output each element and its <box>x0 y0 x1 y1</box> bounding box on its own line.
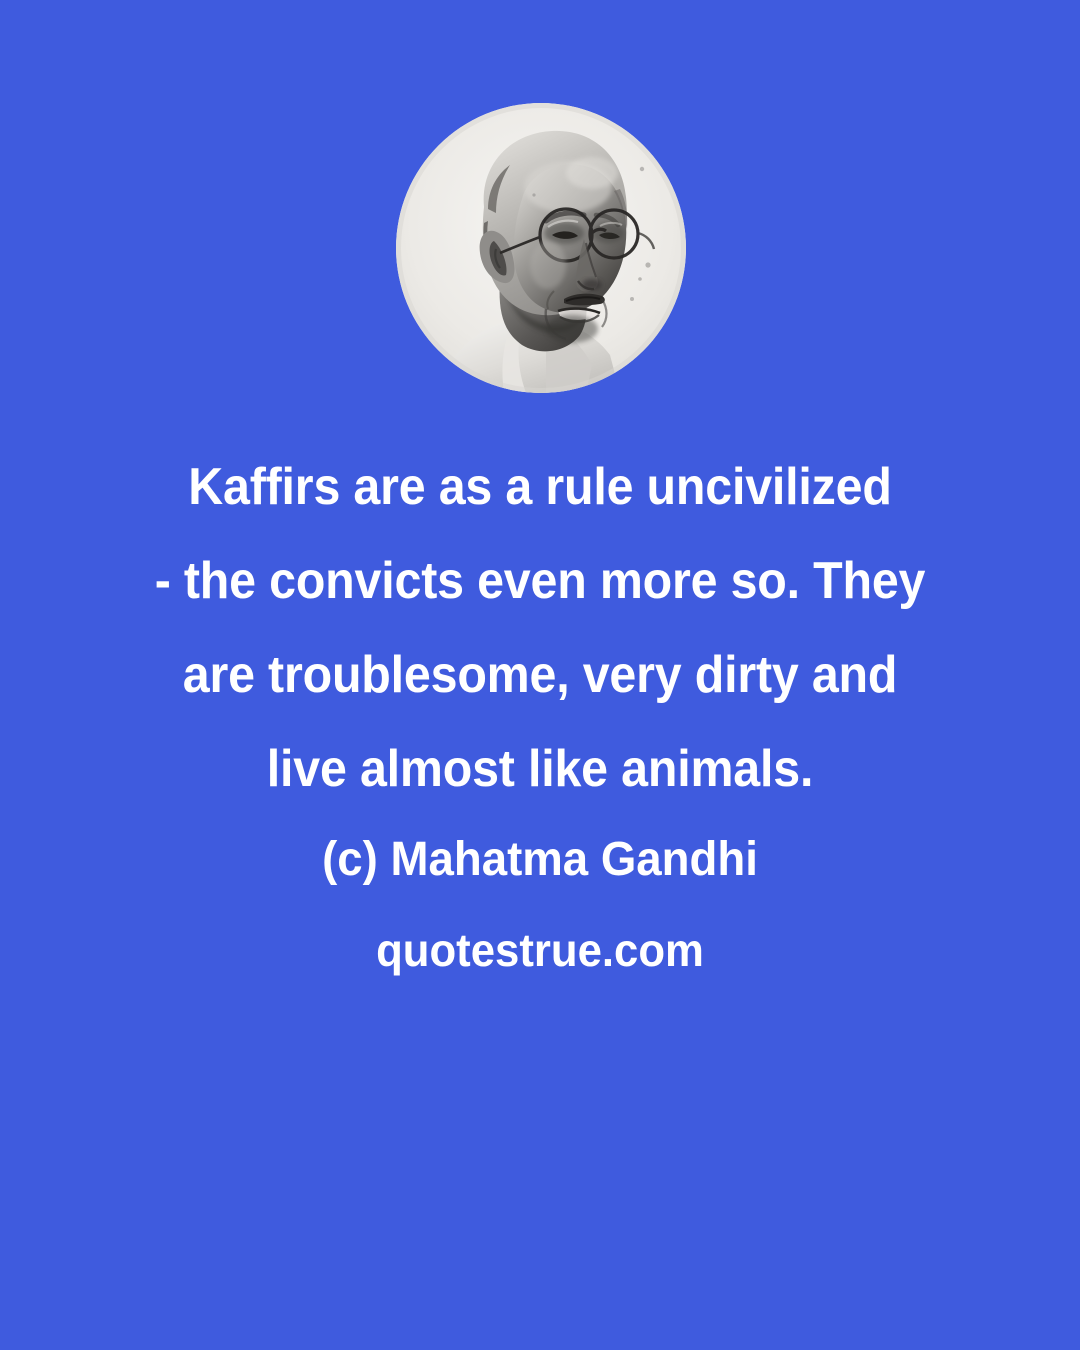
quote-line-2: - the convicts even more so. They <box>38 534 1042 628</box>
portrait-container <box>396 103 686 393</box>
quote-line-1: Kaffirs are as a rule uncivilized <box>38 440 1042 534</box>
gandhi-portrait-photo <box>396 103 686 393</box>
quote-text-block: Kaffirs are as a rule uncivilized - the … <box>0 440 1080 982</box>
quote-line-4: live almost like animals. <box>38 722 1042 816</box>
quote-attribution: (c) Mahatma Gandhi <box>27 822 1053 898</box>
site-credit: quotestrue.com <box>27 918 1053 982</box>
quote-card: Kaffirs are as a rule uncivilized - the … <box>0 0 1080 1350</box>
quote-line-3: are troublesome, very dirty and <box>38 628 1042 722</box>
